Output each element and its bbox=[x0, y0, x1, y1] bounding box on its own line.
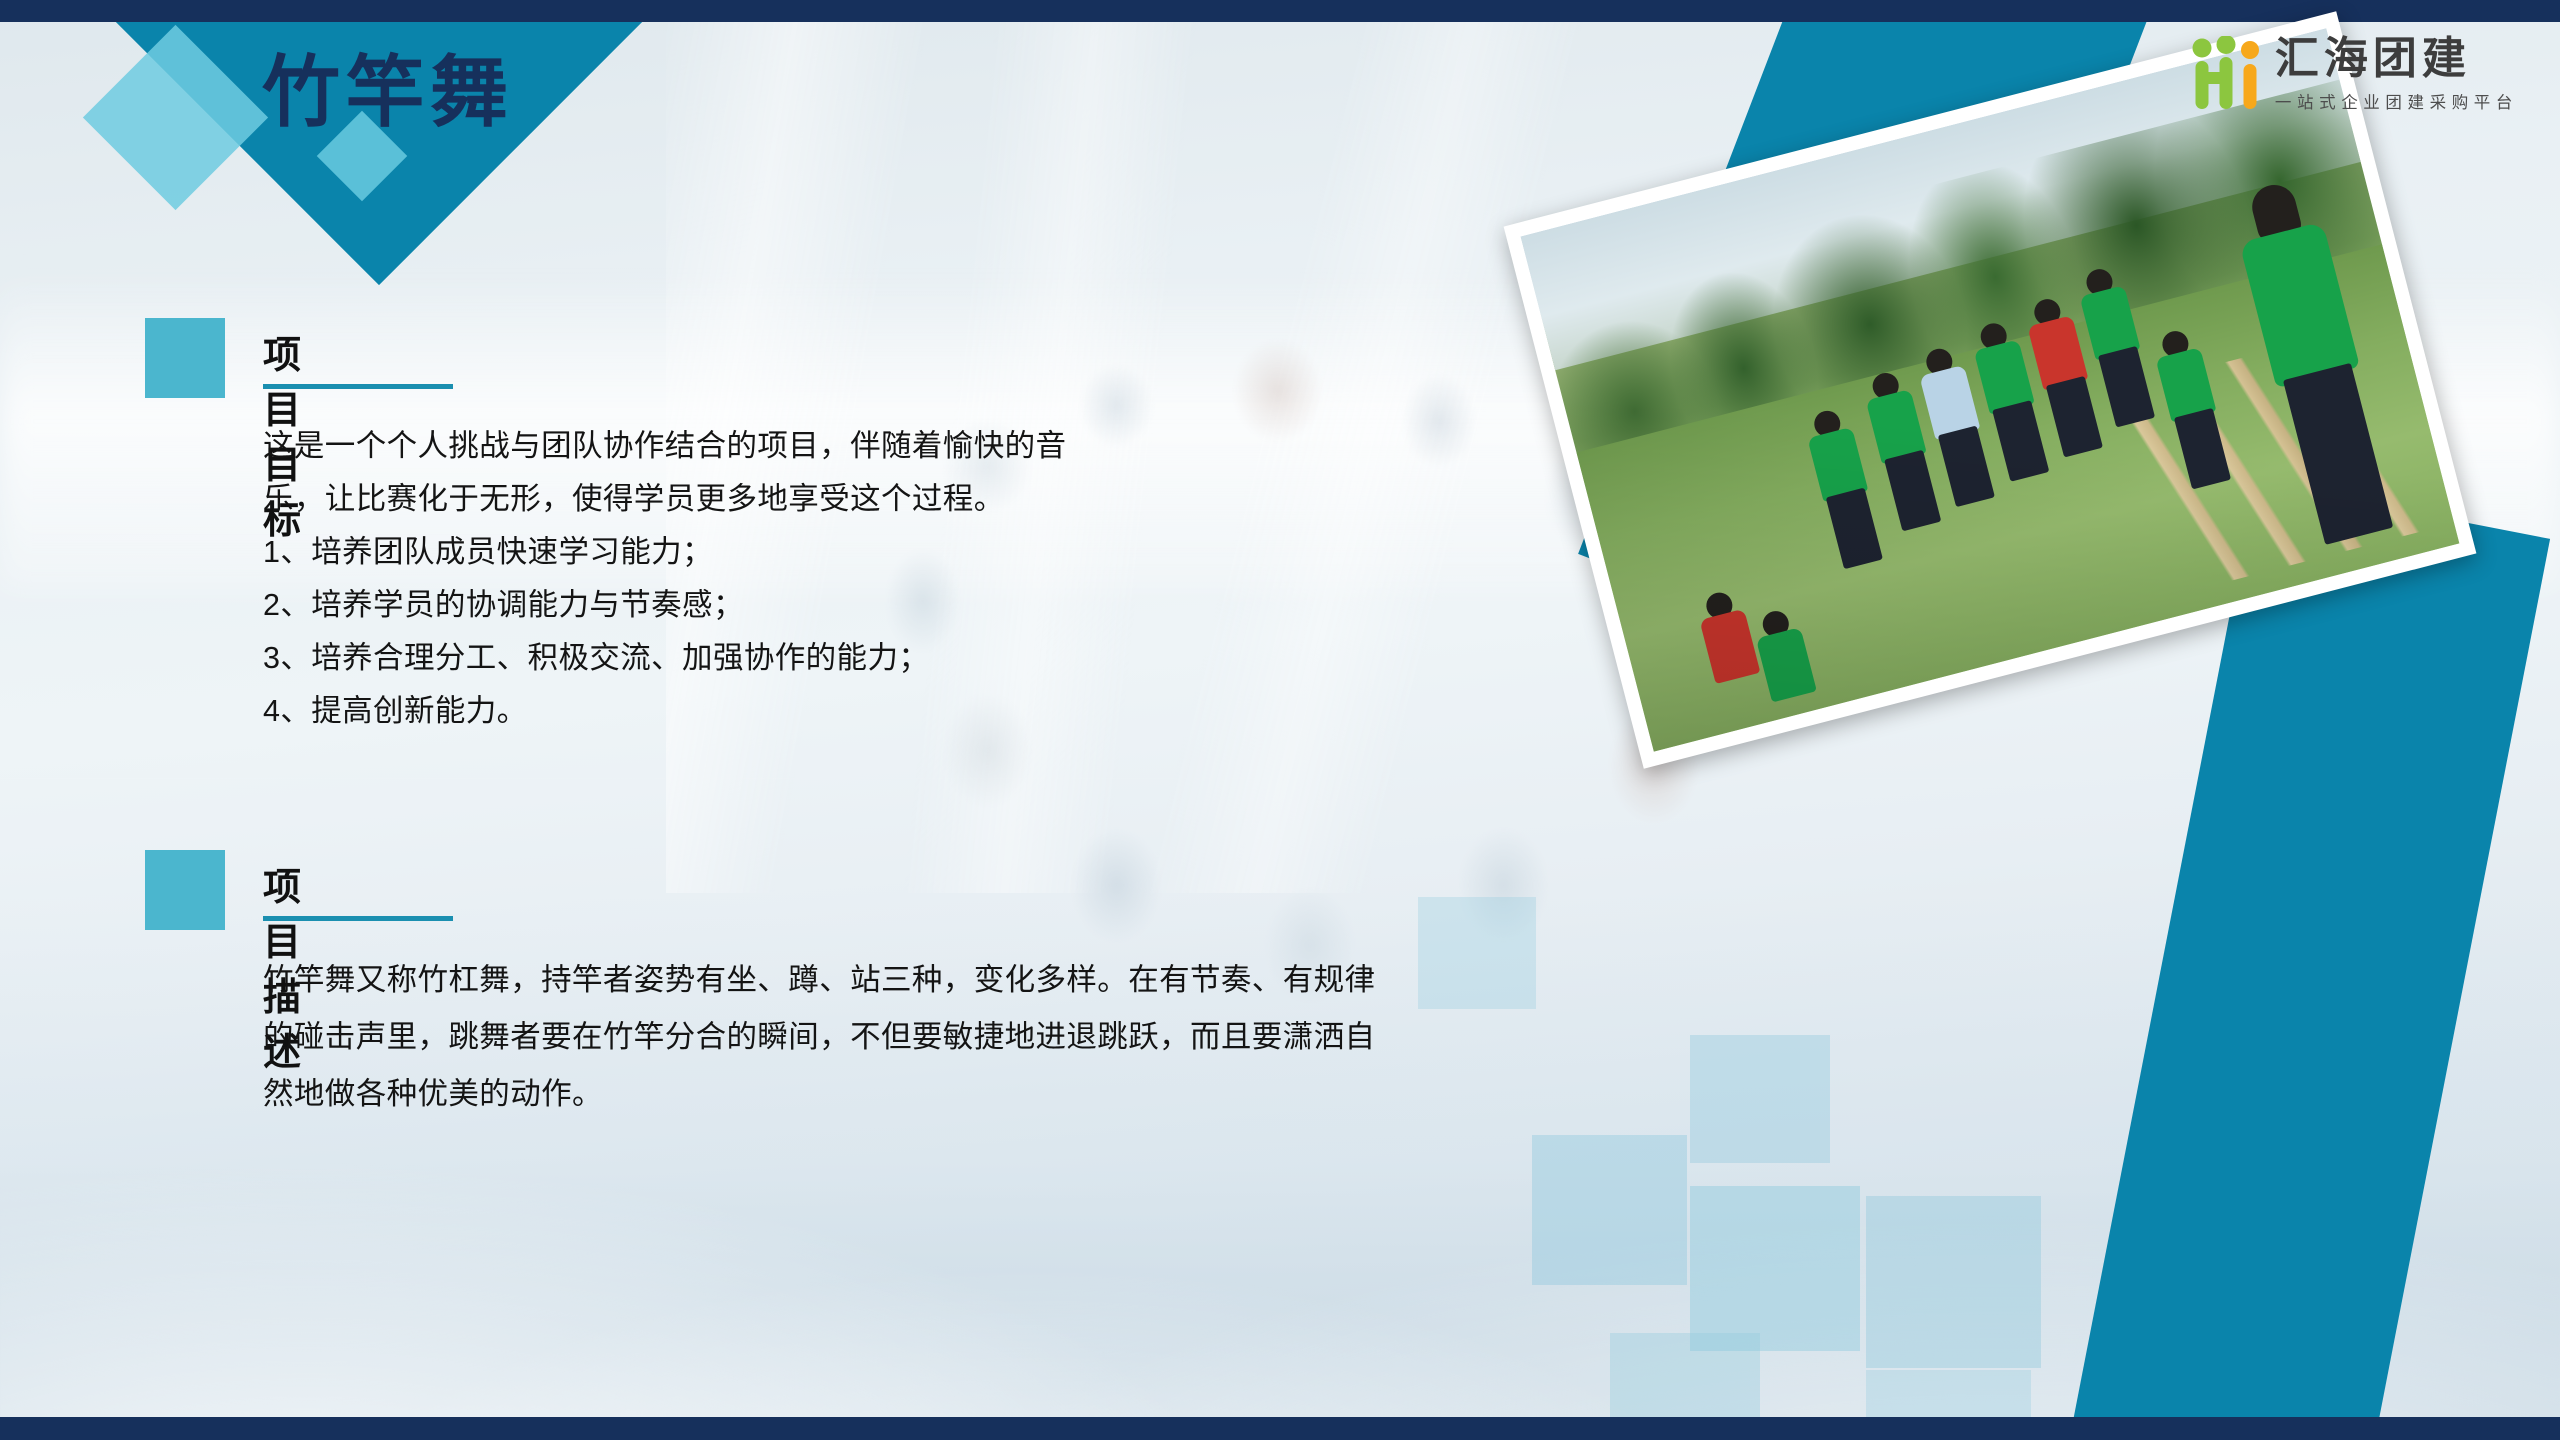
hi-people-icon bbox=[2189, 36, 2263, 112]
body-line: 1、培养团队成员快速学习能力； bbox=[263, 526, 1066, 579]
body-line: 然地做各种优美的动作。 bbox=[263, 1066, 1375, 1123]
body-line: 2、培养学员的协调能力与节奏感； bbox=[263, 579, 1066, 632]
body-line: 4、提高创新能力。 bbox=[263, 685, 1066, 738]
decorative-square bbox=[1690, 1186, 1860, 1351]
body-line: 3、培养合理分工、积极交流、加强协作的能力； bbox=[263, 632, 1066, 685]
section-body: 竹竿舞又称竹杠舞，持竿者姿势有坐、蹲、站三种，变化多样。在有节奏、有规律 的碰击… bbox=[263, 952, 1375, 1123]
decorative-square bbox=[1532, 1135, 1687, 1285]
logo-name: 汇海团建 bbox=[2275, 36, 2518, 82]
body-line: 的碰击声里，跳舞者要在竹竿分合的瞬间，不但要敏捷地进退跳跃，而且要潇洒自 bbox=[263, 1009, 1375, 1066]
page-title: 竹竿舞 bbox=[262, 52, 514, 134]
top-navy-bar bbox=[0, 0, 2560, 22]
section-underline bbox=[263, 916, 453, 921]
body-line: 乐，让比赛化于无形，使得学员更多地享受这个过程。 bbox=[263, 473, 1066, 526]
decorative-square bbox=[1418, 897, 1536, 1009]
decorative-square bbox=[1690, 1035, 1830, 1163]
decorative-square bbox=[1866, 1196, 2041, 1368]
body-line: 竹竿舞又称竹杠舞，持竿者姿势有坐、蹲、站三种，变化多样。在有节奏、有规律 bbox=[263, 952, 1375, 1009]
section-body: 这是一个个人挑战与团队协作结合的项目，伴随着愉快的音 乐，让比赛化于无形，使得学… bbox=[263, 420, 1066, 738]
body-line: 这是一个个人挑战与团队协作结合的项目，伴随着愉快的音 bbox=[263, 420, 1066, 473]
logo-tagline: 一站式企业团建采购平台 bbox=[2275, 89, 2518, 113]
section-badge bbox=[145, 850, 225, 930]
section-badge bbox=[145, 318, 225, 398]
brand-logo: 汇海团建 一站式企业团建采购平台 bbox=[2189, 36, 2518, 113]
section-underline bbox=[263, 384, 453, 389]
slide-canvas: 竹竿舞 汇海团建 一站式企业团建采购平台 项目目标 这是一个个人挑战与团队协作结… bbox=[0, 0, 2560, 1440]
bottom-navy-bar bbox=[0, 1417, 2560, 1440]
logo-text-block: 汇海团建 一站式企业团建采购平台 bbox=[2275, 36, 2518, 113]
